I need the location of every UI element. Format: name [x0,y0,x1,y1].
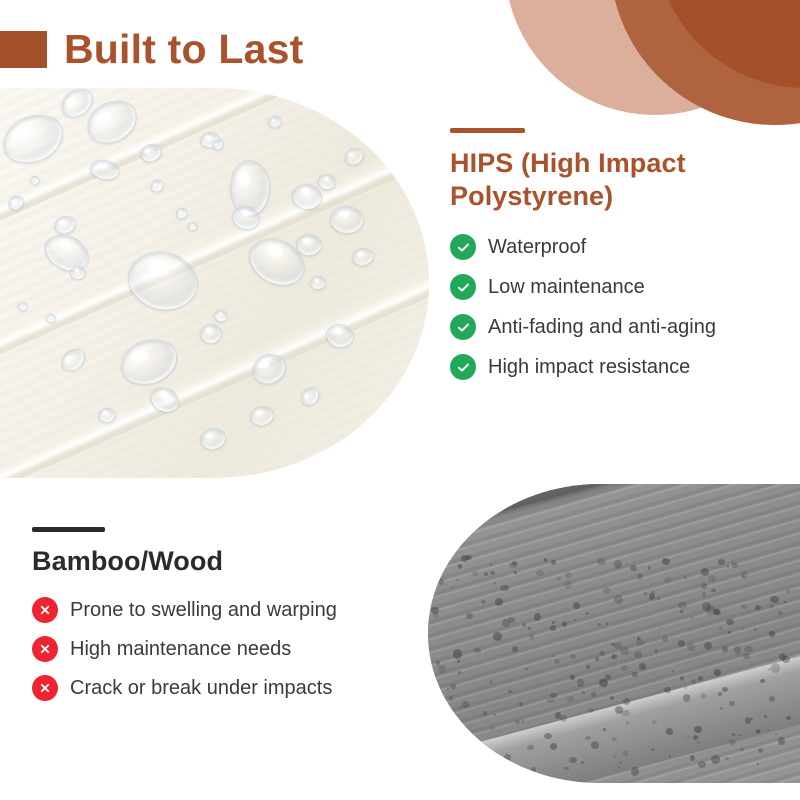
mold-spot [552,621,555,624]
check-circle-icon [450,234,476,260]
header-accent-block [0,31,47,68]
mold-spot [438,579,444,585]
wood-feature-list: Prone to swelling and warpingHigh mainte… [32,597,432,701]
mold-spot [769,631,775,637]
mold-spot [729,739,736,745]
mold-spot [443,557,450,562]
mold-spot [560,715,567,722]
mold-spot [611,654,617,659]
mold-spot [680,610,683,613]
mold-spot [660,627,662,629]
mold-spot [574,619,576,621]
mold-spot [637,573,643,580]
mold-spot [678,640,685,647]
mold-spot [657,597,660,600]
mold-spot [603,587,611,594]
mold-spot [734,646,741,654]
mold-spot [662,636,668,642]
mold-spot [771,663,780,673]
mold-spot [453,649,462,659]
mold-spot [743,653,750,659]
mold-spot [564,581,572,589]
mold-spot [786,589,790,593]
mold-spot [477,769,482,774]
mold-spot [726,619,734,625]
mold-spot [458,564,462,569]
mold-spot [466,613,473,619]
mold-spot [569,757,577,763]
mold-spot [690,616,694,619]
mold-spot [718,692,722,696]
infographic-canvas: Built to Last HIPS (High Impact Polystyr… [0,0,800,800]
mold-spot [767,729,770,731]
feature-label: Crack or break under impacts [70,675,332,701]
mold-spot [599,651,605,656]
mold-spot [648,566,651,570]
mold-spot [770,596,779,603]
mold-spot [764,715,767,718]
mold-spot [483,711,487,716]
check-circle-icon [450,314,476,340]
mold-spot [437,768,442,774]
feature-label: Waterproof [488,234,586,260]
mold-spot [500,585,509,591]
mold-spot [603,728,606,731]
mold-spot [577,679,584,687]
mold-spot [429,742,435,747]
mold-spot [544,558,547,562]
mold-spot [722,646,728,652]
mold-spot [760,679,765,683]
mold-spot [680,676,684,681]
mold-spot [631,767,639,776]
mold-spot [551,560,556,565]
mold-spot [515,720,520,724]
mold-spot [711,589,716,592]
mold-spot [531,767,536,773]
mold-spot [644,592,647,595]
mold-spot [702,592,706,597]
weathered-wood-photo [428,484,800,783]
mold-spot [639,663,646,670]
mold-spot [758,748,763,753]
feature-label: High impact resistance [488,354,690,380]
mold-spot [732,563,738,568]
feature-item: Crack or break under impacts [32,675,432,701]
mold-spot [519,702,523,706]
check-circle-icon [450,354,476,380]
decorative-circle-brown-light [610,0,800,125]
mold-spot [550,625,556,631]
mold-spot [784,601,787,603]
feature-item: Low maintenance [450,274,790,300]
mold-spot [495,598,503,606]
mold-spot [438,665,446,673]
mold-spot [567,696,574,702]
feature-item: High maintenance needs [32,636,432,662]
decorative-circle-pink [505,0,800,115]
hips-section-rule [450,128,525,133]
mold-spot [630,565,637,571]
mold-spot [591,741,599,749]
mold-spot [632,672,638,677]
mold-spot [786,716,791,720]
cross-circle-icon [32,597,58,623]
hips-section-title: HIPS (High Impact Polystyrene) [450,147,790,213]
mold-spot [536,570,544,576]
mold-spot [708,575,716,582]
header: Built to Last [0,28,303,70]
mold-spot [573,602,580,609]
mold-spot [457,660,460,663]
mold-spot [664,577,672,583]
wood-section-rule [32,527,105,532]
mold-spot [693,735,698,740]
feature-label: High maintenance needs [70,636,291,662]
mold-spot [697,741,700,744]
mold-spot [615,706,623,714]
hips-section: HIPS (High Impact Polystyrene) Waterproo… [450,128,790,394]
mold-spot [738,734,741,736]
feature-item: High impact resistance [450,354,790,380]
mold-spot [554,659,560,664]
mold-spot [613,755,616,758]
mold-spot [649,593,655,600]
mold-spot [512,646,518,652]
mold-spot [450,684,456,689]
mold-spot [521,719,525,723]
feature-item: Anti-fading and anti-aging [450,314,790,340]
mold-spot [652,720,657,724]
mold-spot [779,653,786,661]
mold-spot [623,750,628,756]
mold-spot [672,670,674,672]
mold-spot [729,701,735,706]
mold-spot [610,696,614,700]
feature-label: Anti-fading and anti-aging [488,314,716,340]
mold-spot [711,755,720,764]
mold-spot [694,726,702,733]
mold-spot [458,671,461,674]
cross-circle-icon [32,675,58,701]
mold-spot [778,737,785,745]
mold-spot [728,631,731,634]
mold-spot [552,655,555,657]
mold-spot [459,706,462,708]
mold-spot [472,571,478,576]
mold-spot [620,647,629,655]
wood-section: Bamboo/Wood Prone to swelling and warpin… [32,527,432,714]
mold-spot [585,736,591,740]
mold-spot [626,722,629,724]
mold-spot [597,558,606,565]
mold-spot [465,555,472,560]
mold-spot [720,707,723,710]
feature-item: Waterproof [450,234,790,260]
mold-spot [755,605,761,610]
mold-spot [433,765,437,768]
hips-plank-photo [0,88,429,478]
mold-spot [745,717,751,724]
mold-spot [605,674,611,680]
hips-feature-list: WaterproofLow maintenanceAnti-fading and… [450,234,790,380]
decorative-circle-brown-dark [655,0,800,88]
mold-spot [493,632,502,641]
mold-spot [431,607,439,614]
mold-spot [719,627,722,630]
mold-spot [544,733,552,739]
mold-spot [744,646,753,652]
mold-spot [562,621,567,627]
mold-spot [512,561,517,565]
mold-spot [725,757,729,760]
mold-spot [612,737,617,741]
mold-spot [502,619,510,627]
mold-spot [599,679,608,687]
mold-spot [618,766,620,768]
mold-spot [678,602,687,609]
mold-spot [714,669,721,676]
page-title: Built to Last [64,28,303,70]
mold-spot [718,559,725,565]
feature-label: Low maintenance [488,274,645,300]
mold-spot [634,651,642,658]
mold-spot [756,729,761,734]
mold-spot [701,568,709,576]
mold-spot [698,761,706,768]
mold-spot [701,693,706,699]
mold-spot [741,571,748,578]
feature-item: Prone to swelling and warping [32,597,432,623]
mold-spot [664,687,671,693]
mold-spot [550,693,557,698]
mold-spot [611,643,615,646]
cross-circle-icon [32,636,58,662]
mold-spot [666,728,673,735]
feature-label: Prone to swelling and warping [70,597,337,623]
check-circle-icon [450,274,476,300]
mold-spot [581,761,584,764]
mold-spot [687,643,695,651]
mold-spot [684,576,687,579]
mold-spot [438,743,444,747]
wood-section-title: Bamboo/Wood [32,545,432,578]
